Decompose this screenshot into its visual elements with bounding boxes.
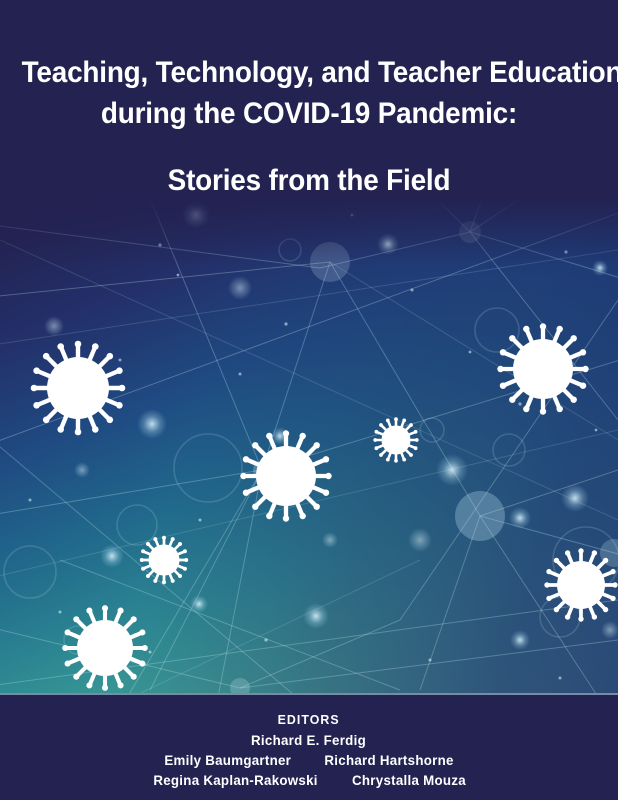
title-line-2: during the COVID-19 Pandemic:	[22, 93, 597, 134]
editors-heading: EDITORS	[278, 710, 340, 730]
book-cover: Teaching, Technology, and Teacher Educat…	[0, 0, 618, 800]
editor-name: Chrystalla Mouza	[352, 770, 466, 790]
editors-row-2: Emily Baumgartner Richard Hartshorne	[161, 750, 457, 770]
header-fade	[0, 196, 618, 266]
editor-name: Regina Kaplan-Rakowski	[154, 770, 318, 790]
lead-editor-name: Richard E. Ferdig	[252, 730, 367, 750]
editors-block: EDITORS Richard E. Ferdig Emily Baumgart…	[0, 693, 618, 800]
virus-particles	[31, 323, 618, 691]
subtitle: Stories from the Field	[22, 160, 597, 201]
editor-name: Emily Baumgartner	[165, 750, 292, 770]
editors-row-3: Regina Kaplan-Rakowski Chrystalla Mouza	[149, 770, 468, 790]
title-line-1: Teaching, Technology, and Teacher Educat…	[22, 52, 597, 93]
editor-name: Richard Hartshorne	[324, 750, 453, 770]
title-block: Teaching, Technology, and Teacher Educat…	[0, 0, 618, 201]
